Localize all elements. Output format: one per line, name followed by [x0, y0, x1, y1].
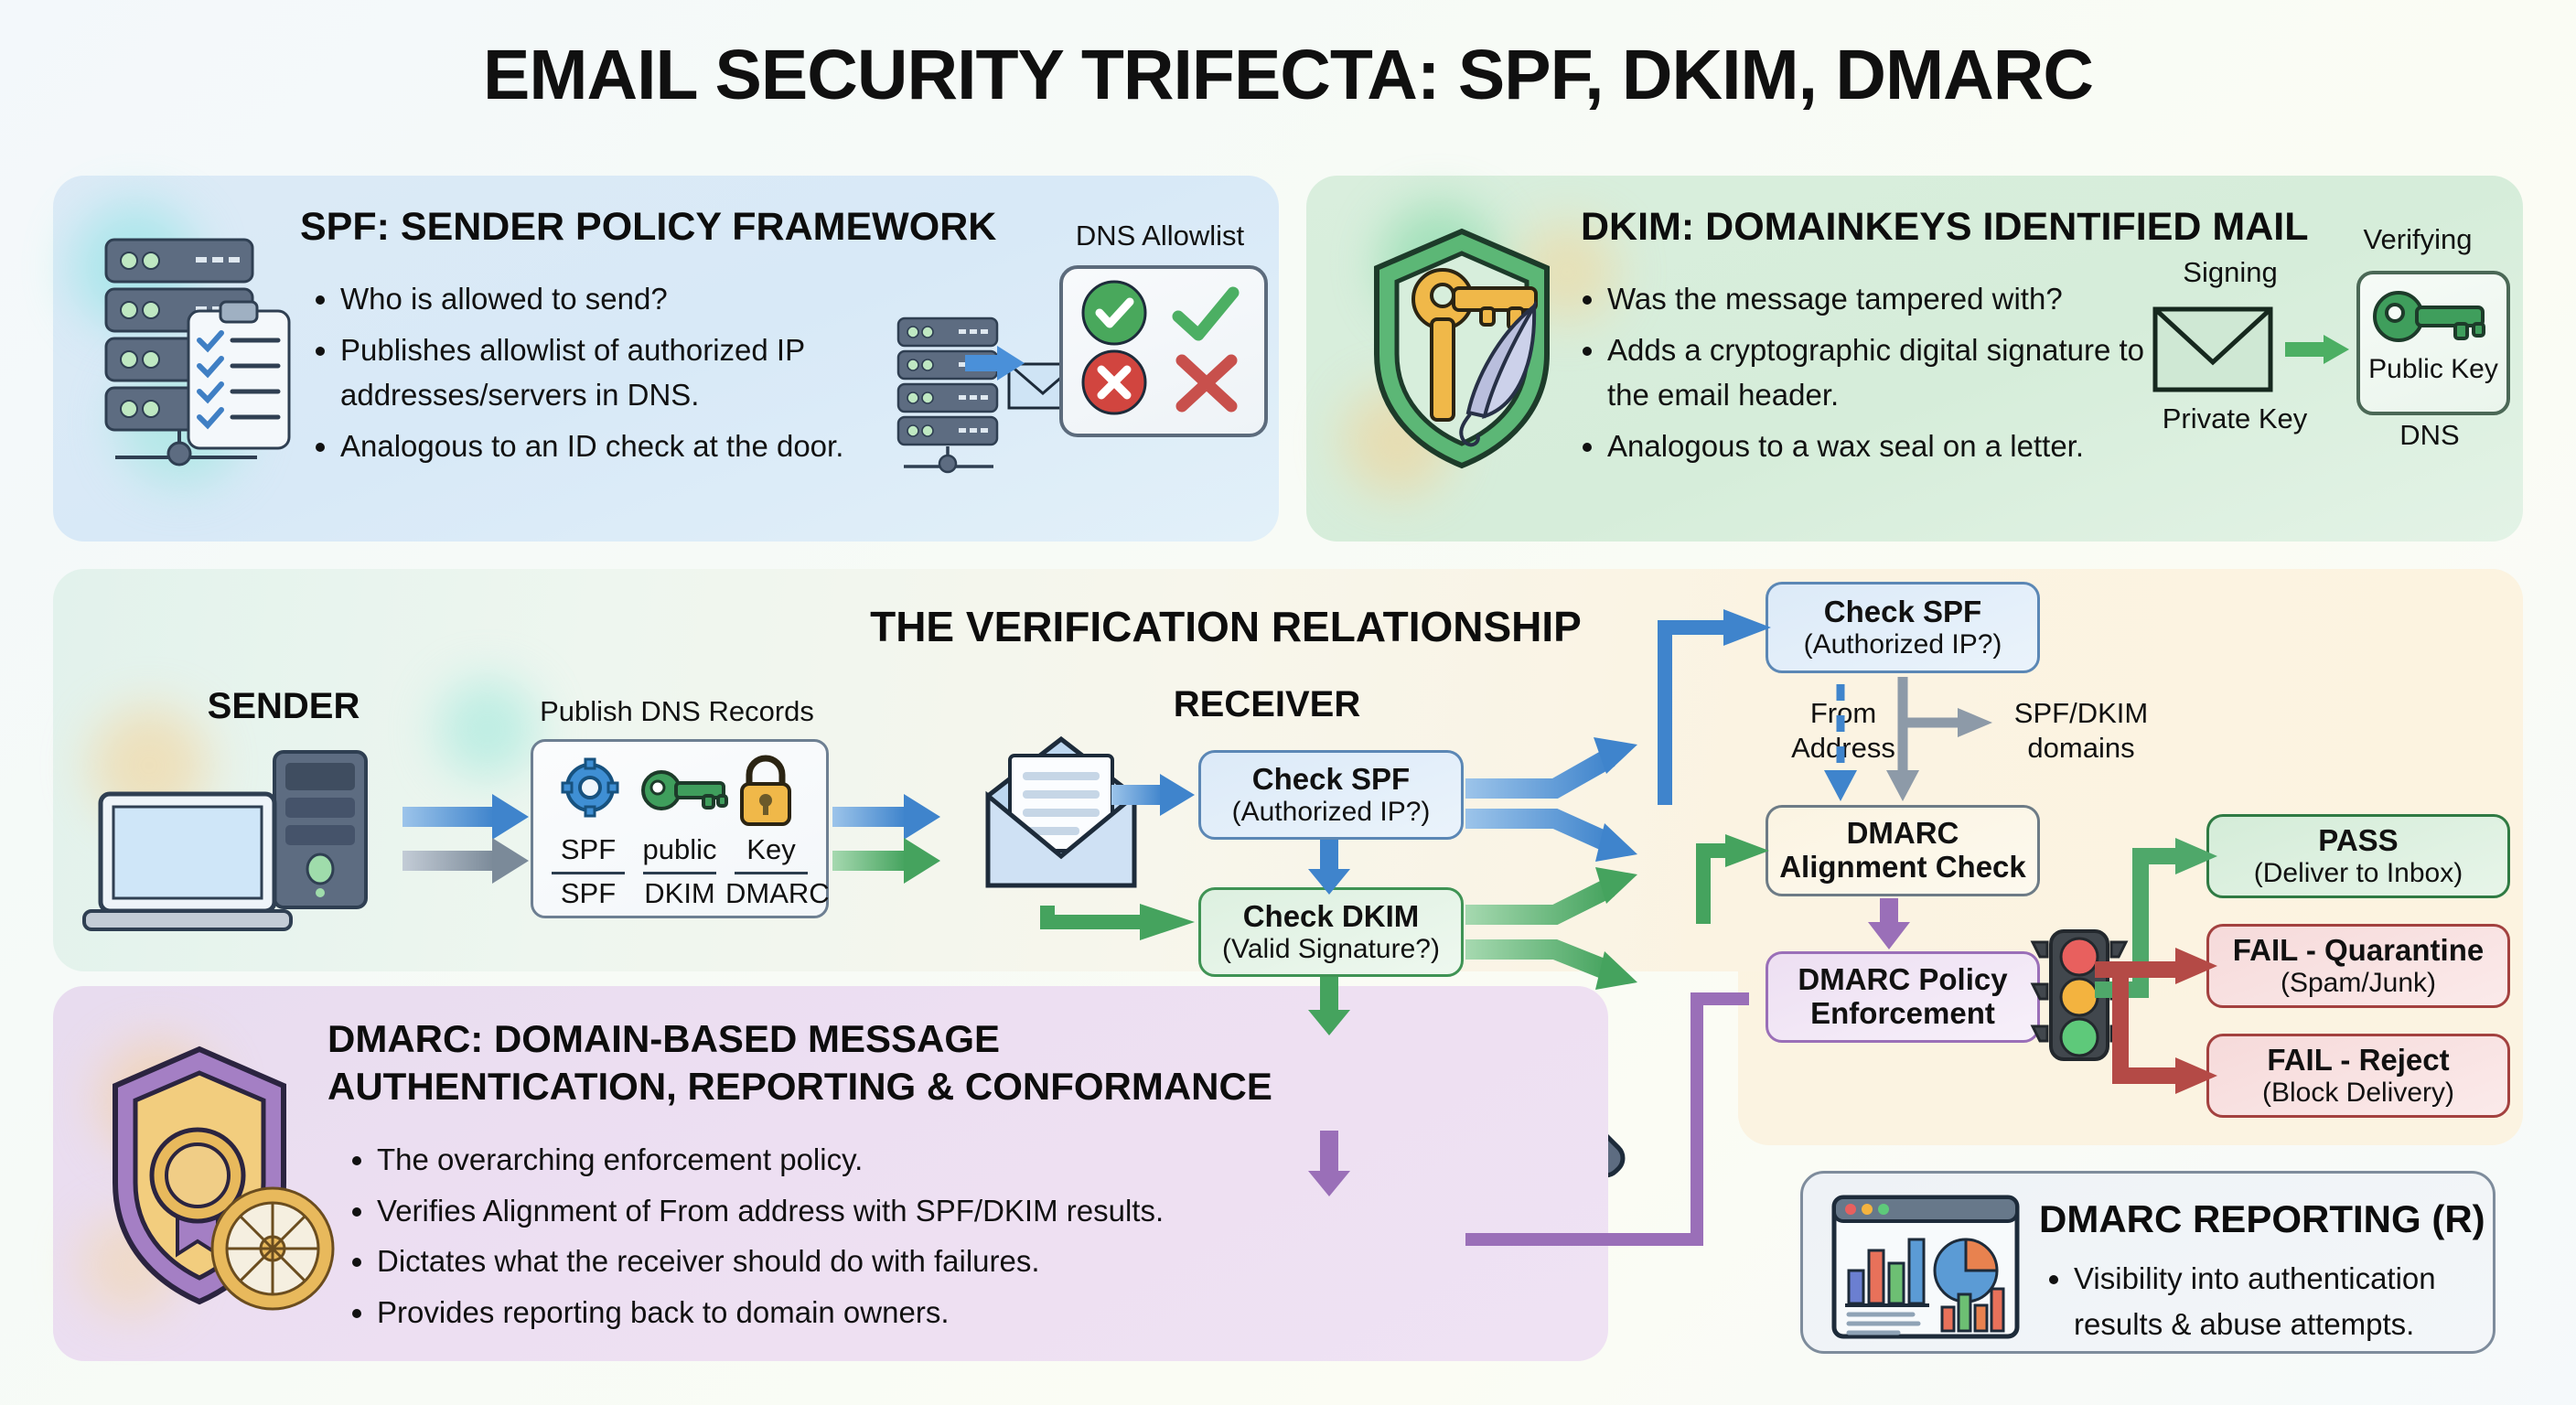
outcome-sub: (Block Delivery) [2262, 1078, 2454, 1109]
check-spf-box-center[interactable]: Check SPF (Authorized IP?) [1198, 750, 1464, 840]
dkim-bullet: Adds a cryptographic digital signature t… [1607, 327, 2162, 418]
gear-icon [563, 759, 617, 816]
sender-label: SENDER [156, 686, 412, 727]
spf-dkim-domains-label-2: domains [1976, 732, 2186, 765]
spf-result-icons [1063, 269, 1257, 426]
traffic-light-icon [2023, 926, 2133, 1072]
sender-devices-icon [82, 741, 393, 942]
verifying-label: Verifying [2322, 223, 2514, 256]
spf-bullet: Publishes allowlist of authorized IP add… [340, 327, 876, 418]
check-spf-sub-right: (Authorized IP?) [1804, 629, 2002, 660]
from-address-label-2: Address [1766, 732, 1921, 765]
signing-envelope-icon [2148, 296, 2367, 415]
dmarc-bullets: The overarching enforcement policy. Veri… [346, 1137, 1315, 1340]
dns-top-public: public [634, 833, 725, 866]
key-icon [643, 772, 726, 809]
outcome-sub: (Deliver to Inbox) [2254, 858, 2463, 889]
dashboard-chart-icon [1830, 1194, 2023, 1342]
reporting-bullet: Visibility into authentication results &… [2074, 1256, 2473, 1346]
dmarc-bullet: Provides reporting back to domain owners… [377, 1290, 1315, 1335]
dmarc-policy-right-line1: DMARC Policy [1798, 963, 2007, 997]
outcome-title: FAIL - Quarantine [2233, 934, 2484, 968]
dmarc-alignment-box-right[interactable]: DMARC Alignment Check [1766, 805, 2040, 896]
dns-records-card: SPF public Key SPF DKIM DMARC [531, 739, 829, 918]
spf-bullets: Who is allowed to send? Publishes allowl… [309, 276, 876, 474]
spf-heading: SPF: SENDER POLICY FRAMEWORK [300, 205, 996, 250]
outcome-title: PASS [2318, 824, 2398, 858]
check-spf-sub: (Authorized IP?) [1232, 797, 1431, 828]
server-clipboard-icon [88, 221, 307, 477]
flow-heading: THE VERIFICATION RELATIONSHIP [805, 602, 1647, 651]
divider [552, 872, 625, 874]
outcome-reject-box[interactable]: FAIL - Reject (Block Delivery) [2206, 1034, 2510, 1118]
dmarc-policy-box-right[interactable]: DMARC Policy Enforcement [1766, 951, 2040, 1043]
dkim-bullets: Was the message tampered with? Adds a cr… [1576, 276, 2162, 474]
dmarc-alignment-right-line1: DMARC [1847, 817, 1959, 851]
dns-bottom-dmarc: DMARC [725, 877, 817, 910]
outcome-quarantine-box[interactable]: FAIL - Quarantine (Spam/Junk) [2206, 924, 2510, 1008]
dkim-bullet: Analogous to a wax seal on a letter. [1607, 424, 2162, 469]
dmarc-alignment-right-line2: Alignment Check [1779, 851, 2026, 885]
signing-label: Signing [2139, 256, 2322, 289]
dns-record-icons [533, 751, 821, 828]
spf-dkim-domains-label-1: SPF/DKIM [1976, 697, 2186, 730]
dmarc-heading-line1: DMARC: DOMAIN-BASED MESSAGE [327, 1017, 1000, 1061]
receiver-label: RECEIVER [1116, 684, 1418, 725]
open-envelope-icon [970, 732, 1153, 906]
divider [643, 872, 716, 874]
dmarc-bullet: The overarching enforcement policy. [377, 1137, 1315, 1183]
from-address-label-1: From [1766, 697, 1921, 730]
dkim-heading: DKIM: DOMAINKEYS IDENTIFIED MAIL [1581, 205, 2308, 250]
divider [735, 872, 808, 874]
key-icon [2360, 280, 2499, 353]
public-key-label: Public Key [2360, 354, 2506, 385]
dmarc-policy-right-line2: Enforcement [1810, 997, 1995, 1031]
check-spf-title-right: Check SPF [1824, 595, 1981, 629]
infographic-canvas: EMAIL SECURITY TRIFECTA: SPF, DKIM, DMAR… [0, 0, 2576, 1405]
dmarc-heading-line2: AUTHENTICATION, REPORTING & CONFORMANCE [327, 1065, 1272, 1109]
reporting-bullets: Visibility into authentication results &… [2043, 1256, 2473, 1352]
dns-top-key: Key [725, 833, 817, 866]
spf-panel: SPF: SENDER POLICY FRAMEWORK Who is allo… [53, 176, 1279, 542]
dmarc-bullet: Dictates what the receiver should do wit… [377, 1239, 1315, 1284]
spf-bullet: Analogous to an ID check at the door. [340, 424, 876, 469]
dkim-bullet: Was the message tampered with? [1607, 276, 2162, 322]
spf-result-card [1059, 265, 1268, 437]
check-dkim-sub: (Valid Signature?) [1222, 934, 1440, 965]
lock-icon [742, 758, 789, 824]
dmarc-panel: DMARC: DOMAIN-BASED MESSAGE AUTHENTICATI… [53, 986, 1608, 1361]
reporting-heading: DMARC REPORTING (R) [2039, 1197, 2485, 1241]
outcome-pass-box[interactable]: PASS (Deliver to Inbox) [2206, 814, 2510, 898]
check-spf-box-right[interactable]: Check SPF (Authorized IP?) [1766, 582, 2040, 673]
publish-dns-records-label: Publish DNS Records [494, 695, 860, 728]
page-title: EMAIL SECURITY TRIFECTA: SPF, DKIM, DMAR… [0, 35, 2576, 116]
dns-bottom-spf: SPF [542, 877, 634, 910]
dns-allowlist-label: DNS Allowlist [1041, 220, 1279, 252]
check-spf-title: Check SPF [1252, 763, 1410, 797]
private-key-label: Private Key [2134, 402, 2335, 435]
spf-bullet: Who is allowed to send? [340, 276, 876, 322]
public-key-card: Public Key [2356, 271, 2510, 415]
dkim-dns-label: DNS [2356, 419, 2503, 452]
dmarc-bullet: Verifies Alignment of From address with … [377, 1188, 1315, 1234]
dkim-panel: DKIM: DOMAINKEYS IDENTIFIED MAIL Was the… [1306, 176, 2523, 542]
dmarc-shield-medal-icon [90, 1036, 346, 1329]
decorative-glow [437, 679, 538, 779]
check-dkim-title: Check DKIM [1243, 900, 1420, 934]
dns-top-spf: SPF [542, 833, 634, 866]
shield-key-quill-icon [1347, 217, 1576, 482]
outcome-sub: (Spam/Junk) [2281, 968, 2436, 999]
dmarc-reporting-panel: DMARC REPORTING (R) Visibility into auth… [1800, 1171, 2495, 1354]
outcome-title: FAIL - Reject [2267, 1044, 2449, 1078]
check-dkim-box-center[interactable]: Check DKIM (Valid Signature?) [1198, 887, 1464, 977]
dns-bottom-dkim: DKIM [634, 877, 725, 910]
